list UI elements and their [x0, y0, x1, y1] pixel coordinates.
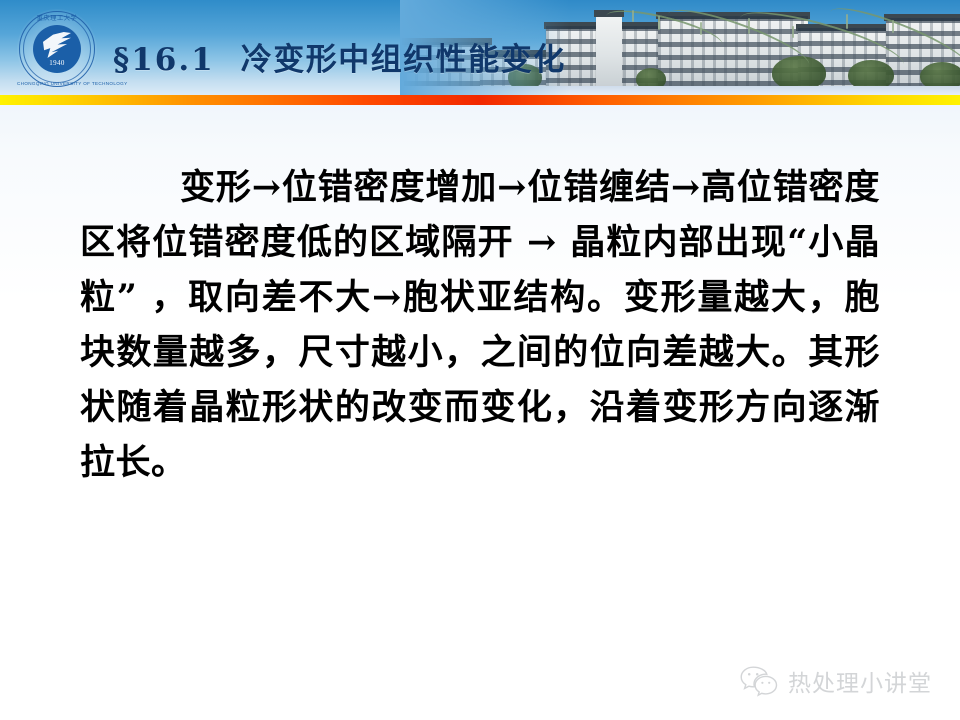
header-divider-bar: [0, 95, 960, 105]
slide-title: §16.1冷变形中组织性能变化: [113, 34, 566, 79]
slide-canvas: 重庆理工大学 CHONGQING UNIVERSITY OF TECHNOLOG…: [0, 0, 960, 720]
seal-swoosh-mark: [43, 32, 71, 58]
watermark-label: 热处理小讲堂: [788, 664, 932, 698]
seal-english-name: CHONGQING UNIVERSITY OF TECHNOLOGY: [17, 81, 97, 86]
seal-emblem: 1940: [33, 25, 81, 73]
seal-founding-year: 1940: [33, 59, 81, 67]
seal-chinese-name: 重庆理工大学: [17, 13, 97, 22]
slide-body: 变形→位错密度增加→位错缠结→高位错密度区将位错密度低的区域隔开 → 晶粒内部出…: [0, 105, 960, 635]
twig-1: [632, 10, 634, 22]
twig-2: [658, 16, 660, 30]
body-paragraph: 变形→位错密度增加→位错缠结→高位错密度区将位错密度低的区域隔开 → 晶粒内部出…: [80, 160, 880, 490]
twig-6: [846, 14, 848, 29]
university-logo: 重庆理工大学 CHONGQING UNIVERSITY OF TECHNOLOG…: [17, 9, 97, 89]
section-number: §16.1: [113, 42, 215, 78]
wechat-watermark: 热处理小讲堂: [739, 664, 932, 698]
title-text: 冷变形中组织性能变化: [241, 42, 566, 78]
slide-header-banner: 重庆理工大学 CHONGQING UNIVERSITY OF TECHNOLOG…: [0, 0, 960, 96]
twig-3: [700, 22, 702, 35]
twig-4: [748, 18, 750, 34]
twig-5: [792, 26, 794, 38]
twig-7: [892, 20, 894, 33]
wechat-icon: [739, 665, 779, 697]
